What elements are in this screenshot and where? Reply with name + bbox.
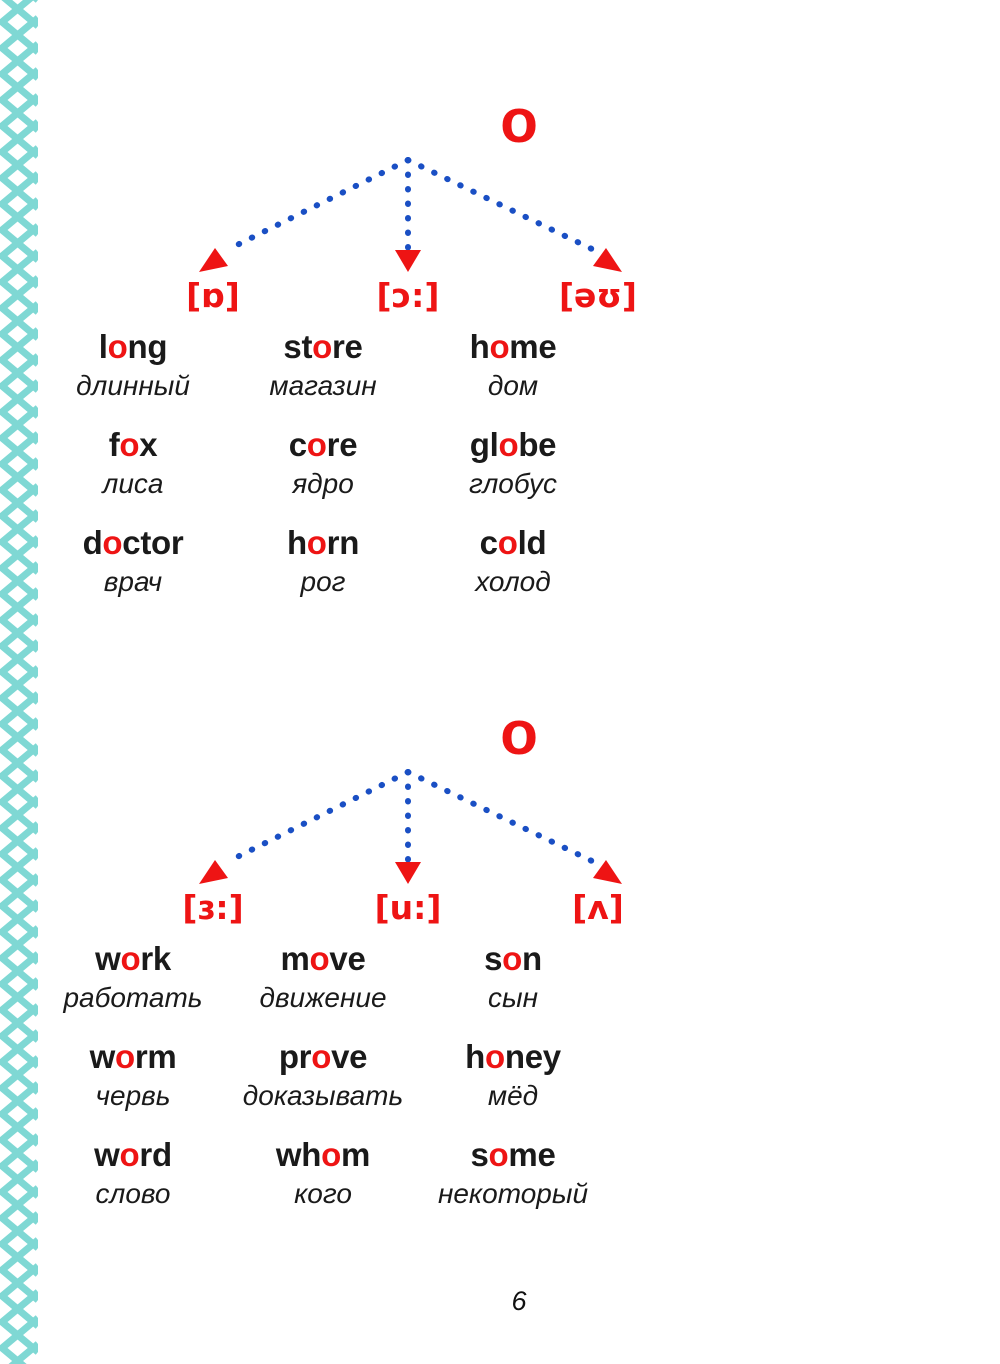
page-number: 6: [38, 1286, 1000, 1317]
highlighted-vowel: o: [489, 328, 509, 365]
highlighted-vowel: o: [120, 1136, 140, 1173]
highlighted-vowel: o: [119, 426, 139, 463]
word-prefix: m: [280, 940, 309, 977]
word-entry: coldхолод: [378, 522, 648, 600]
russian-translation: глобус: [378, 465, 648, 502]
word-suffix: rk: [140, 940, 171, 977]
word-prefix: s: [470, 1136, 488, 1173]
word-prefix: st: [283, 328, 312, 365]
word-column: homeдомglobeглобусcoldхолод: [378, 326, 648, 620]
word-entry: globeглобус: [378, 424, 648, 502]
word-suffix: ve: [329, 940, 365, 977]
root-letter: o: [38, 700, 1000, 768]
word-suffix: ng: [128, 328, 168, 365]
highlighted-vowel: o: [502, 940, 522, 977]
word-suffix: re: [332, 328, 363, 365]
russian-translation: холод: [378, 563, 648, 600]
word-prefix: gl: [470, 426, 499, 463]
highlighted-vowel: o: [108, 328, 128, 365]
word-suffix: rm: [135, 1038, 177, 1075]
highlighted-vowel: o: [498, 524, 518, 561]
highlighted-vowel: o: [321, 1136, 341, 1173]
highlighted-vowel: o: [307, 524, 327, 561]
word-suffix: me: [508, 1136, 555, 1173]
word-entry: honeyмёд: [378, 1036, 648, 1114]
word-prefix: wh: [276, 1136, 321, 1173]
word-suffix: ney: [505, 1038, 561, 1075]
phoneme-label: [əʊ]: [488, 276, 708, 316]
highlighted-vowel: o: [312, 328, 332, 365]
word-suffix: n: [522, 940, 542, 977]
word-suffix: m: [341, 1136, 370, 1173]
word-entry: sonсын: [378, 938, 648, 1016]
page-content: o[ɒ][ɔ:][əʊ]longдлинныйfoxлисаdoctorврач…: [38, 0, 1000, 1364]
english-word: home: [378, 326, 648, 367]
root-letter: o: [38, 88, 1000, 156]
highlighted-vowel: o: [307, 426, 327, 463]
phoneme-label: [ɒ]: [103, 276, 323, 316]
word-column: sonсынhoneyмёдsomeнекоторый: [378, 938, 648, 1232]
word-prefix: d: [83, 524, 103, 561]
russian-translation: мёд: [378, 1077, 648, 1114]
phoneme-row: [ɜ:][u:][ʌ]: [38, 888, 1000, 934]
word-prefix: h: [465, 1038, 485, 1075]
word-suffix: ld: [518, 524, 547, 561]
highlighted-vowel: o: [311, 1038, 331, 1075]
highlighted-vowel: o: [102, 524, 122, 561]
word-prefix: w: [94, 1136, 119, 1173]
word-suffix: me: [509, 328, 556, 365]
word-prefix: s: [484, 940, 502, 977]
english-word: globe: [378, 424, 648, 465]
english-word: cold: [378, 522, 648, 563]
russian-translation: некоторый: [378, 1175, 648, 1212]
russian-translation: сын: [378, 979, 648, 1016]
english-word: son: [378, 938, 648, 979]
phoneme-row: [ɒ][ɔ:][əʊ]: [38, 276, 1000, 322]
branch-arrows: [38, 762, 1000, 892]
word-prefix: h: [287, 524, 307, 561]
word-suffix: ctor: [122, 524, 183, 561]
phoneme-label: [u:]: [298, 888, 518, 928]
word-suffix: re: [327, 426, 358, 463]
highlighted-vowel: o: [115, 1038, 135, 1075]
word-suffix: be: [518, 426, 556, 463]
word-prefix: h: [470, 328, 490, 365]
word-prefix: f: [109, 426, 120, 463]
word-entry: homeдом: [378, 326, 648, 404]
word-prefix: c: [289, 426, 307, 463]
branch-arrows: [38, 150, 1000, 280]
word-prefix: w: [90, 1038, 115, 1075]
word-suffix: x: [139, 426, 157, 463]
english-word: honey: [378, 1036, 648, 1077]
word-prefix: l: [99, 328, 108, 365]
highlighted-vowel: o: [120, 940, 140, 977]
phoneme-label: [ɔ:]: [298, 276, 518, 316]
word-suffix: rd: [139, 1136, 171, 1173]
phoneme-label: [ɜ:]: [103, 888, 323, 928]
word-suffix: ve: [331, 1038, 367, 1075]
highlighted-vowel: o: [310, 940, 330, 977]
russian-translation: дом: [378, 367, 648, 404]
highlighted-vowel: o: [498, 426, 518, 463]
word-entry: someнекоторый: [378, 1134, 648, 1212]
phoneme-label: [ʌ]: [488, 888, 708, 928]
english-word: some: [378, 1134, 648, 1175]
highlighted-vowel: o: [489, 1136, 509, 1173]
highlighted-vowel: o: [485, 1038, 505, 1075]
word-suffix: rn: [327, 524, 359, 561]
word-prefix: c: [480, 524, 498, 561]
word-prefix: pr: [279, 1038, 311, 1075]
word-prefix: w: [95, 940, 120, 977]
